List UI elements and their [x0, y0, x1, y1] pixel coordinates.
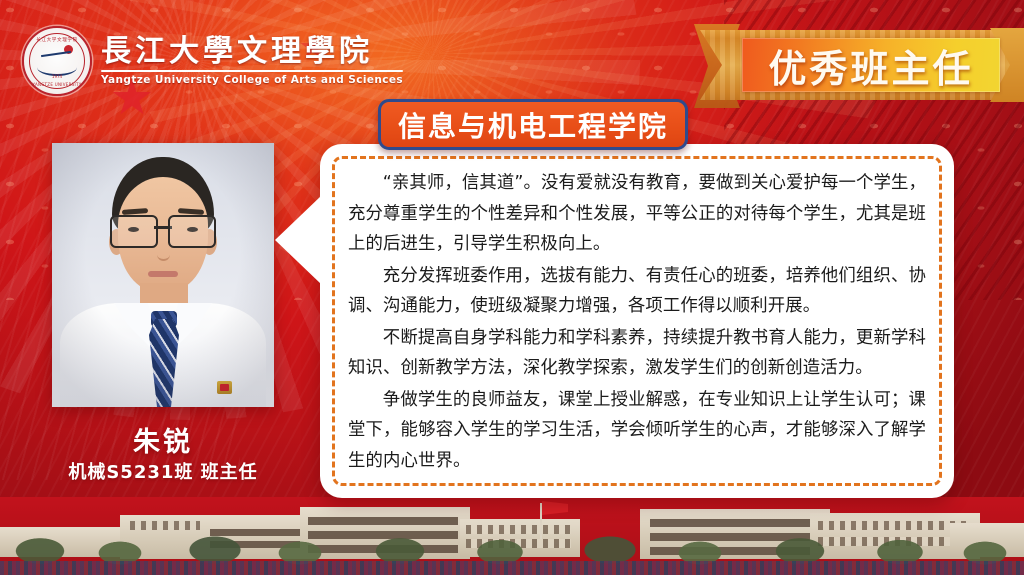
statement-paragraph-4: 争做学生的良师益友，课堂上授业解惑，在专业知识上让学生认可；课堂下，能够容入学生…	[348, 385, 926, 477]
campus-footer-image	[0, 497, 1024, 575]
emblem-top-text: 长江大学文理学院	[24, 37, 90, 43]
section-title-label: 信息与机电工程学院	[398, 105, 668, 145]
logo-chinese-name: 長江大學文理學院	[101, 36, 403, 68]
statement-card-pointer	[275, 196, 321, 284]
award-ribbon: 优秀班主任	[700, 26, 1024, 104]
photo-vignette	[52, 143, 274, 407]
section-title-badge: 信息与机电工程学院	[378, 99, 688, 150]
statement-card: “亲其师，信其道”。没有爱就没有教育，要做到关心爱护每一个学生，充分尊重学生的个…	[320, 144, 954, 498]
logo-english-name: Yangtze University College of Arts and S…	[101, 74, 403, 86]
teacher-role: 机械S5231班 班主任	[22, 458, 304, 484]
emblem-bottom-text: YANGTZE UNIVERSITY	[24, 82, 90, 87]
statement-paragraph-2: 充分发挥班委作用，选拔有能力、有责任心的班委，培养他们组织、协调、沟通能力，使班…	[348, 261, 926, 322]
university-logo: 长江大学文理学院 1974 YANGTZE UNIVERSITY 長江大學文理學…	[22, 26, 403, 96]
poster-root: 长江大学文理学院 1974 YANGTZE UNIVERSITY 長江大學文理學…	[0, 0, 1024, 575]
statement-paragraph-1: “亲其师，信其道”。没有爱就没有教育，要做到关心爱护每一个学生，充分尊重学生的个…	[348, 168, 926, 260]
campus-band	[650, 519, 820, 527]
award-ribbon-label: 优秀班主任	[742, 36, 1000, 94]
statement-paragraph-3: 不断提高自身学科能力和学科素养，持续提升教书育人能力，更新学科知识、创新教学方法…	[348, 323, 926, 384]
logo-divider	[101, 70, 403, 72]
teacher-photo	[52, 143, 274, 407]
statement-text-body: “亲其师，信其道”。没有爱就没有教育，要做到关心爱护每一个学生，充分尊重学生的个…	[348, 168, 926, 478]
teacher-name: 朱锐	[52, 420, 274, 459]
campus-window-row	[130, 521, 200, 530]
logo-text-block: 長江大學文理學院 Yangtze University College of A…	[101, 36, 403, 86]
campus-band	[308, 517, 458, 525]
campus-window-row	[818, 521, 968, 530]
campus-crowd	[0, 561, 1024, 575]
emblem-year: 1974	[24, 74, 90, 79]
university-emblem-icon: 长江大学文理学院 1974 YANGTZE UNIVERSITY	[22, 26, 92, 96]
